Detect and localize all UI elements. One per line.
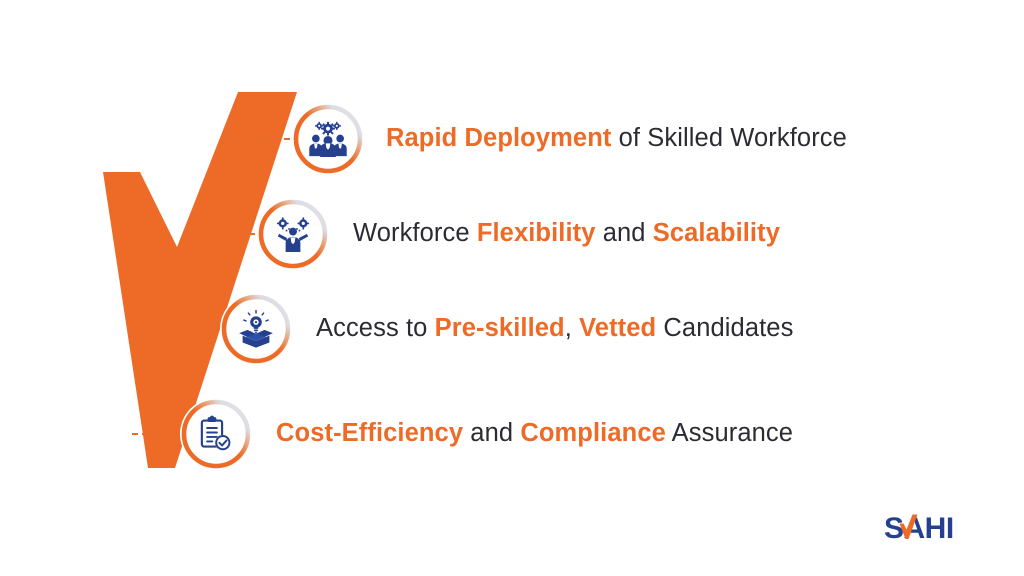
team-gears-icon — [292, 103, 364, 175]
benefit-3-plain-3: Candidates — [656, 314, 793, 342]
benefit-row-1[interactable]: Rapid Deployment of Skilled Workforce — [248, 96, 847, 182]
logo-wordmark: SAHI — [884, 512, 954, 545]
benefit-4-plain-1: and — [463, 419, 520, 447]
benefit-3-highlight-2: Vetted — [579, 314, 656, 342]
benefit-row-4[interactable]: Cost-Efficiency and Compliance Assurance — [132, 391, 793, 477]
benefit-label-2: Workforce Flexibility and Scalability — [353, 219, 780, 248]
benefit-label-3: Access to Pre-skilled, Vetted Candidates — [316, 314, 793, 343]
connector-dash-2 — [213, 233, 255, 235]
connector-dash-3 — [172, 328, 218, 330]
benefit-row-3[interactable]: Access to Pre-skilled, Vetted Candidates — [172, 286, 793, 372]
infographic-slide: Rapid Deployment of Skilled Workforce — [0, 0, 1024, 576]
benefit-3-highlight-1: Pre-skilled — [435, 314, 565, 342]
benefit-icon-medallion-1[interactable] — [292, 103, 364, 175]
lightbulb-in-open-box-icon — [220, 293, 292, 365]
benefit-1-highlight-1: Rapid Deployment — [386, 124, 611, 152]
benefit-3-plain-1: Access to — [316, 314, 435, 342]
benefit-4-highlight-2: Compliance — [520, 419, 666, 447]
benefit-row-2[interactable]: Workforce Flexibility and Scalability — [213, 191, 780, 277]
clipboard-check-icon — [180, 398, 252, 470]
benefit-3-plain-2: , — [565, 314, 579, 342]
benefit-2-plain-2: and — [596, 219, 653, 247]
benefit-1-plain-1: of Skilled Workforce — [611, 124, 846, 152]
sahi-logo[interactable]: SAHI — [882, 508, 986, 548]
benefit-4-plain-2: Assurance — [666, 419, 793, 447]
connector-dash-4 — [132, 433, 178, 435]
benefit-icon-medallion-2[interactable] — [257, 198, 329, 270]
benefit-2-highlight-1: Flexibility — [477, 219, 596, 247]
person-juggling-gears-icon — [257, 198, 329, 270]
benefit-label-4: Cost-Efficiency and Compliance Assurance — [276, 419, 793, 448]
benefit-2-plain-1: Workforce — [353, 219, 477, 247]
connector-dash-1 — [248, 138, 290, 140]
benefit-2-highlight-2: Scalability — [653, 219, 780, 247]
benefit-label-1: Rapid Deployment of Skilled Workforce — [386, 124, 847, 153]
benefit-icon-medallion-4[interactable] — [180, 398, 252, 470]
benefit-4-highlight-1: Cost-Efficiency — [276, 419, 463, 447]
benefit-icon-medallion-3[interactable] — [220, 293, 292, 365]
